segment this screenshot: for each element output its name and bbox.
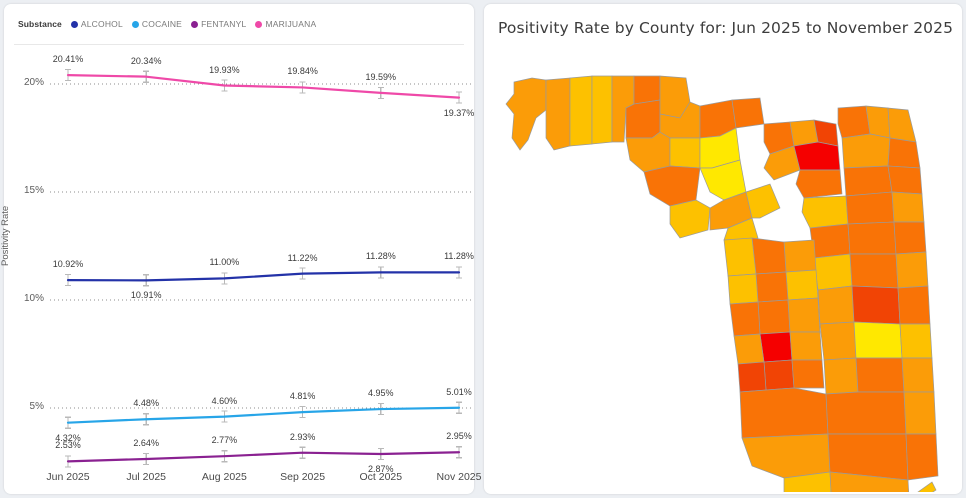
map-county[interactable] [634,76,660,104]
map-county[interactable] [906,434,938,480]
map-county[interactable] [732,98,764,128]
map-county[interactable] [644,166,700,206]
map-county[interactable] [728,274,758,304]
map-county[interactable] [670,138,700,168]
map-county[interactable] [826,392,906,434]
map-county[interactable] [546,78,570,150]
positivity-trend-chart-panel: Substance ALCOHOL COCAINE FENTANYL MARIJ… [4,4,474,494]
legend-item-cocaine[interactable]: COCAINE [132,19,182,29]
data-label: 5.01% [431,387,487,397]
map-county[interactable] [626,100,660,138]
county-map-panel: Positivity Rate by County for: Jun 2025 … [484,4,962,494]
map-county[interactable] [852,286,900,324]
map-county[interactable] [898,286,930,324]
map-county[interactable] [626,132,670,172]
legend-label-cocaine: COCAINE [142,19,182,29]
florida-choropleth-map[interactable] [484,42,962,492]
map-county[interactable] [506,78,546,150]
map-county[interactable] [790,120,818,146]
map-county[interactable] [570,76,592,146]
data-label: 11.22% [275,253,331,263]
map-county[interactable] [888,166,922,194]
legend-item-fentanyl[interactable]: FENTANYL [191,19,246,29]
map-county[interactable] [738,362,766,392]
map-county[interactable] [866,106,890,138]
map-county[interactable] [592,76,612,144]
map-county[interactable] [818,286,854,324]
map-county[interactable] [846,192,894,224]
data-label: 2.93% [275,432,331,442]
map-county[interactable] [856,358,904,392]
map-county[interactable] [894,222,926,254]
map-county[interactable] [892,192,924,222]
data-label: 19.84% [275,66,331,76]
data-label: 2.87% [353,464,409,474]
series-line[interactable] [68,272,459,280]
legend-divider [14,44,464,45]
x-axis-tick: Jul 2025 [111,471,181,483]
x-axis-tick: Aug 2025 [189,471,259,483]
data-label: 4.60% [196,396,252,406]
line-chart-plot: Positivity Rate 5%10%15%20%Jun 2025Jul 2… [4,48,474,494]
map-county[interactable] [888,108,916,142]
map-county[interactable] [902,358,934,392]
map-county[interactable] [734,334,764,364]
y-axis-tick: 20% [10,77,44,88]
map-county[interactable] [802,196,848,228]
map-county[interactable] [850,254,898,288]
legend-swatch-cocaine [132,21,139,28]
map-county[interactable] [794,142,840,170]
dashboard-canvas: Substance ALCOHOL COCAINE FENTANYL MARIJ… [0,0,966,498]
data-label: 2.77% [196,435,252,445]
x-axis-tick: Jun 2025 [33,471,103,483]
map-county[interactable] [670,200,710,238]
data-label: 4.81% [275,391,331,401]
data-label: 11.28% [353,251,409,261]
y-axis-tick: 5% [10,401,44,412]
series-line[interactable] [68,452,459,461]
map-county[interactable] [820,322,856,360]
legend-label-fentanyl: FENTANYL [201,19,246,29]
chart-svg [4,48,474,494]
map-county[interactable] [848,222,896,254]
y-axis-tick: 10% [10,293,44,304]
map-county[interactable] [838,106,870,138]
data-label: 20.34% [118,56,174,66]
map-county[interactable] [790,332,822,360]
data-label: 4.95% [353,388,409,398]
legend-item-alcohol[interactable]: ALCOHOL [71,19,123,29]
map-county[interactable] [786,270,818,300]
legend-title: Substance [18,19,62,29]
map-county[interactable] [756,272,788,302]
data-label: 11.28% [431,251,487,261]
map-county[interactable] [784,240,816,272]
map-county[interactable] [888,138,920,168]
map-county[interactable] [752,238,786,274]
data-label: 4.48% [118,398,174,408]
map-county[interactable] [742,434,830,478]
data-label: 11.00% [196,257,252,267]
map-county[interactable] [758,300,790,334]
data-label: 19.37% [431,108,487,118]
data-label: 10.92% [40,259,96,269]
y-axis-title: Positivity Rate [0,206,11,266]
map-title: Positivity Rate by County for: Jun 2025 … [498,19,953,37]
map-county[interactable] [810,224,850,258]
legend-label-marijuana: MARIJUANA [265,19,316,29]
map-county[interactable] [760,332,792,362]
series-line[interactable] [68,408,459,423]
map-county[interactable] [900,324,932,358]
map-county[interactable] [730,302,760,336]
map-county[interactable] [854,322,902,358]
map-county[interactable] [792,360,824,388]
map-county[interactable] [740,388,828,438]
florida-map-svg[interactable] [484,42,962,492]
data-label: 10.91% [118,290,174,300]
x-axis-tick: Sep 2025 [268,471,338,483]
map-county[interactable] [842,134,890,168]
map-county[interactable] [764,360,794,390]
data-label: 19.93% [196,65,252,75]
legend-swatch-marijuana [255,21,262,28]
substance-legend: Substance ALCOHOL COCAINE FENTANYL MARIJ… [18,19,325,29]
map-county[interactable] [824,358,858,394]
data-label: 19.59% [353,72,409,82]
legend-item-marijuana[interactable]: MARIJUANA [255,19,316,29]
data-label: 2.53% [40,440,96,450]
legend-swatch-alcohol [71,21,78,28]
map-county[interactable] [746,184,780,218]
map-county[interactable] [796,170,842,198]
legend-swatch-fentanyl [191,21,198,28]
map-county[interactable] [896,252,928,288]
data-label: 2.64% [118,438,174,448]
y-axis-tick: 15% [10,185,44,196]
data-label: 20.41% [40,54,96,64]
map-county[interactable] [844,166,892,196]
map-county[interactable] [788,298,820,332]
map-county[interactable] [814,254,852,290]
legend-label-alcohol: ALCOHOL [81,19,123,29]
map-county[interactable] [724,238,756,276]
map-county[interactable] [904,392,936,434]
data-label: 2.95% [431,431,487,441]
